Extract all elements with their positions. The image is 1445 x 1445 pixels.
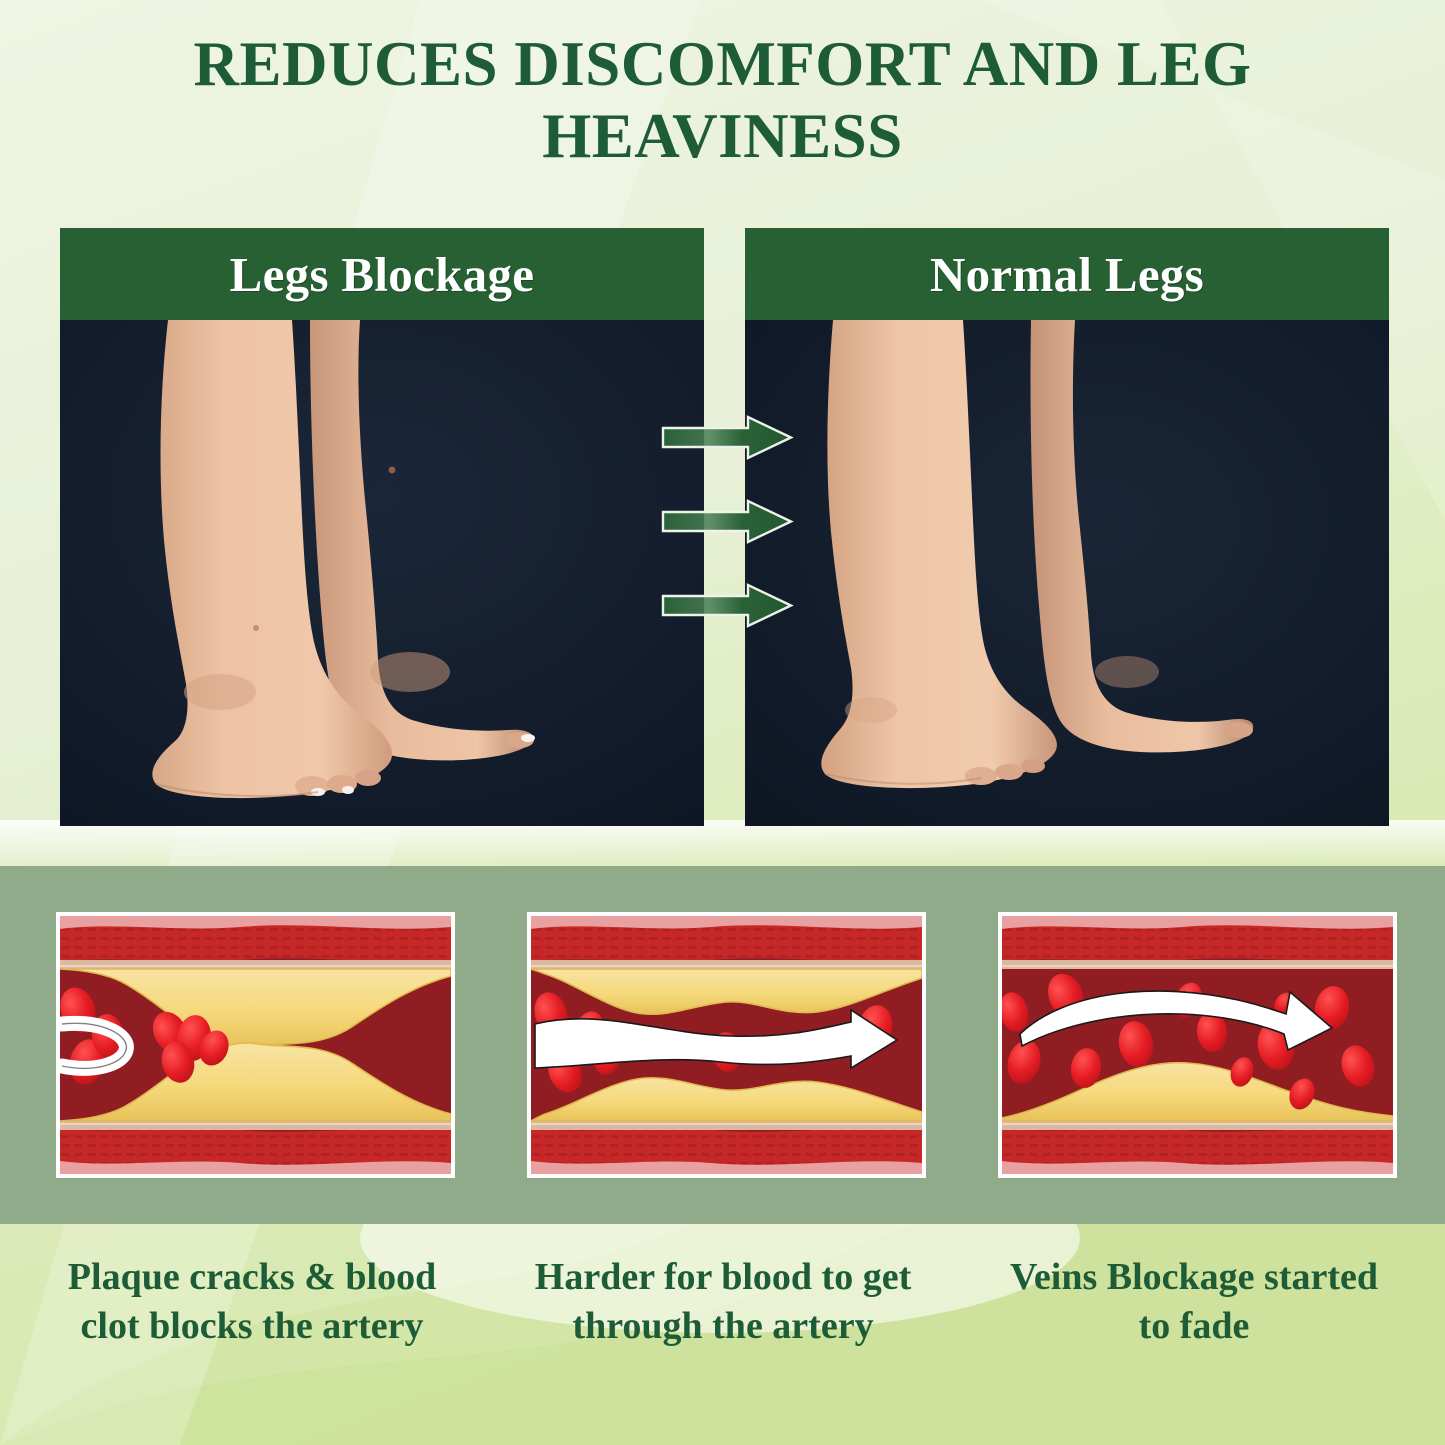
caption-clearing: Veins Blockage started to fade [1004,1253,1384,1351]
normal-legs-photo [745,320,1389,826]
before-after-comparison: Legs Blockage [60,228,1389,826]
panel-header-normal-legs: Normal Legs [745,228,1389,320]
panel-header-legs-blockage: Legs Blockage [60,228,704,320]
artery-diagram-clearing [998,912,1397,1178]
artery-diagram-narrowed [527,912,926,1178]
panel-header-label: Normal Legs [930,246,1204,303]
panel-header-label: Legs Blockage [230,246,535,303]
comparison-panel-right: Normal Legs [745,228,1389,826]
artery-diagram-panel [0,866,1445,1224]
comparison-panel-left: Legs Blockage [60,228,704,826]
caption-row: Plaque cracks & blood clot blocks the ar… [0,1235,1445,1445]
page-title: REDUCES DISCOMFORT AND LEG HEAVINESS [0,28,1445,172]
caption-narrowed: Harder for blood to get through the arte… [533,1253,913,1351]
swollen-legs-photo [60,320,704,826]
title-line-1: REDUCES DISCOMFORT AND LEG [0,28,1445,100]
caption-blocked: Plaque cracks & blood clot blocks the ar… [62,1253,442,1351]
title-line-2: HEAVINESS [0,100,1445,172]
artery-diagram-blocked [56,912,455,1178]
